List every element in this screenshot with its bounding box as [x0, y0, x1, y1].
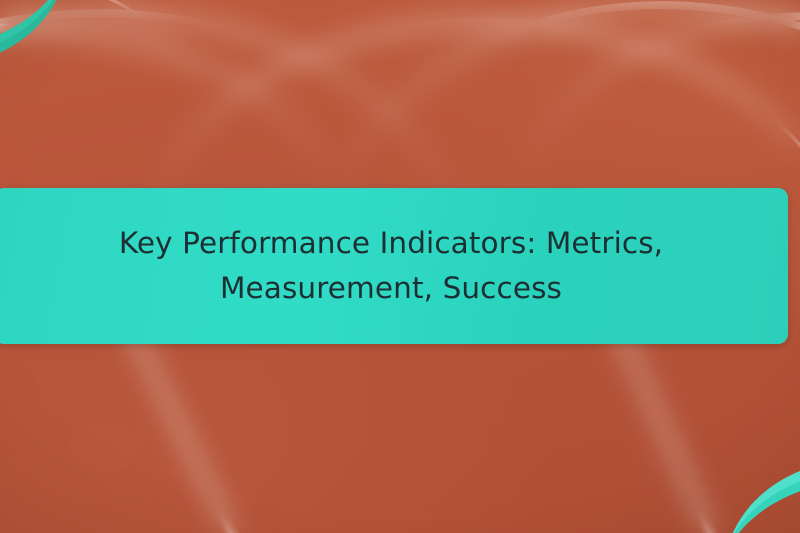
title-banner: Key Performance Indicators: Metrics, Mea… — [0, 188, 788, 344]
slide-canvas: Key Performance Indicators: Metrics, Mea… — [0, 0, 800, 533]
page-title: Key Performance Indicators: Metrics, Mea… — [111, 221, 671, 311]
